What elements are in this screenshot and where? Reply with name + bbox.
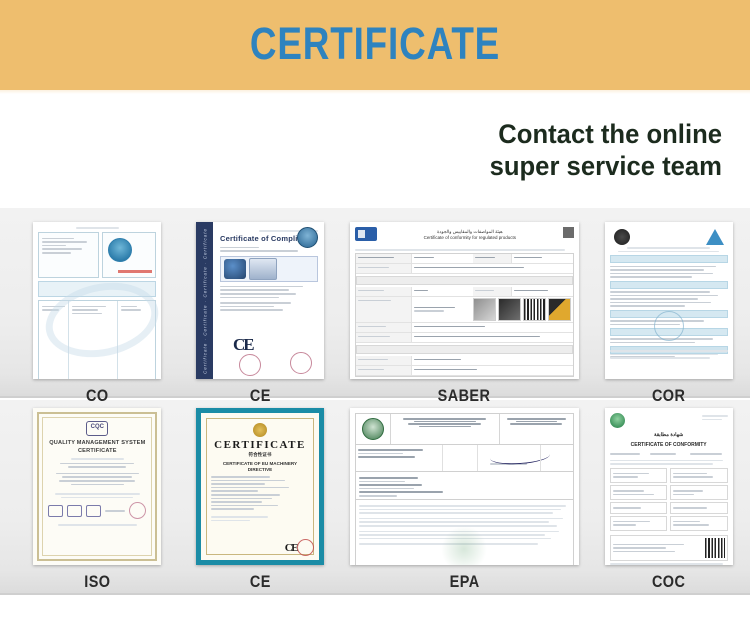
certificate-label: CO xyxy=(86,386,109,406)
ce-teal-sub-1: 符合性证书 xyxy=(211,452,309,458)
ce-teal-stamp xyxy=(297,539,314,556)
certificate-label: EPA xyxy=(449,572,479,592)
certificate-row-2: CQC QUALITY MANAGEMENT SYSTEM CERTIFICAT… xyxy=(0,408,750,593)
ce-sidebar: Certificate · Certificate · Certificate … xyxy=(196,222,213,379)
certificate-label: CE xyxy=(250,572,271,592)
cor-logo-left xyxy=(614,229,630,245)
iso-heading-1: QUALITY MANAGEMENT SYSTEM xyxy=(44,439,150,447)
coc-title-en: CERTIFICATE OF CONFORMITY xyxy=(610,442,728,449)
certificate-thumbnail-iso[interactable]: CQC QUALITY MANAGEMENT SYSTEM CERTIFICAT… xyxy=(33,408,161,565)
iso-stamp xyxy=(129,502,146,519)
certificate-item-co[interactable]: CO xyxy=(16,222,179,412)
certificate-item-epa[interactable]: EPA xyxy=(341,408,587,593)
saber-logo xyxy=(355,227,377,241)
saber-title-en: Certificate of conformity for regulated … xyxy=(382,235,558,241)
certificate-thumbnail-co[interactable] xyxy=(33,222,161,379)
certificate-label: SABER xyxy=(438,386,491,406)
ce-teal-sub-2: CERTIFICATE OF EU MACHINERY DIRECTIVE xyxy=(211,461,309,473)
certificate-item-ce-teal[interactable]: CERTIFICATE 符合性证书 CERTIFICATE OF EU MACH… xyxy=(179,408,342,593)
certificate-item-coc[interactable]: شهادة مطابقة CERTIFICATE OF CONFORMITY xyxy=(587,408,750,593)
iso-heading-2: CERTIFICATE xyxy=(44,447,150,455)
subtitle-line-1: Contact the online xyxy=(323,118,722,150)
certificate-thumbnail-coc[interactable]: شهادة مطابقة CERTIFICATE OF CONFORMITY xyxy=(605,408,733,565)
certificate-label: ISO xyxy=(84,572,110,592)
subtitle-line-2: super service team xyxy=(323,150,722,182)
epa-seal-icon xyxy=(362,418,384,440)
certificate-thumbnail-ce-teal[interactable]: CERTIFICATE 符合性证书 CERTIFICATE OF EU MACH… xyxy=(196,408,324,565)
certificate-item-ce-navy[interactable]: Certificate · Certificate · Certificate … xyxy=(179,222,342,412)
certificate-thumbnail-cor[interactable] xyxy=(605,222,733,379)
coc-title-ar: شهادة مطابقة xyxy=(610,432,728,439)
cor-logo-right xyxy=(706,229,724,245)
page-title: CERTIFICATE xyxy=(68,18,683,70)
ce-seal-icon xyxy=(253,423,267,437)
saber-qr-icon xyxy=(563,227,574,238)
coc-qr-code xyxy=(705,538,725,558)
subtitle: Contact the online super service team xyxy=(323,118,722,182)
header-banner: CERTIFICATE xyxy=(0,0,750,90)
ce-teal-title: CERTIFICATE xyxy=(211,439,309,452)
certificate-thumbnail-ce-navy[interactable]: Certificate · Certificate · Certificate … xyxy=(196,222,324,379)
banner-fade xyxy=(0,84,750,94)
certificate-item-saber[interactable]: هيئة المواصفات والمقاييس والجودة Certifi… xyxy=(341,222,587,412)
cqc-logo: CQC xyxy=(86,421,108,436)
ce-teal-mark: CE xyxy=(285,542,297,554)
cor-stamp xyxy=(654,311,684,341)
certificate-label: COC xyxy=(652,572,685,592)
certificate-thumbnail-epa[interactable] xyxy=(350,408,579,565)
certificate-item-cor[interactable]: COR xyxy=(587,222,750,412)
certificate-label: CE xyxy=(250,386,271,406)
certificate-item-iso[interactable]: CQC QUALITY MANAGEMENT SYSTEM CERTIFICAT… xyxy=(16,408,179,593)
certificate-label: COR xyxy=(652,386,685,406)
coc-logo xyxy=(610,413,625,428)
certificate-thumbnail-saber[interactable]: هيئة المواصفات والمقاييس والجودة Certifi… xyxy=(350,222,579,379)
shelf-divider-2 xyxy=(0,593,750,595)
certificate-row-1: CO Certificate · Certificate · Certifica… xyxy=(0,222,750,412)
ce-mark: CE xyxy=(233,335,253,355)
certificate-showcase: CERTIFICATE Contact the online super ser… xyxy=(0,0,750,623)
